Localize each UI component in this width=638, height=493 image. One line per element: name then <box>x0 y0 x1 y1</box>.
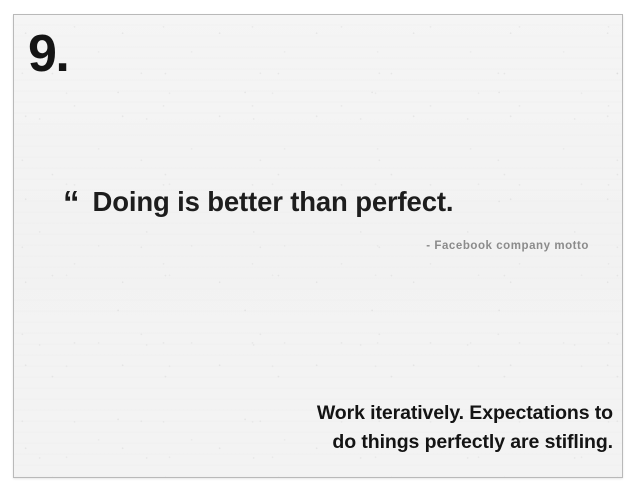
presentation-slide: 9. “ Doing is better than perfect. - Fac… <box>13 14 623 478</box>
open-quote-icon: “ <box>63 186 80 219</box>
slide-canvas: 9. “ Doing is better than perfect. - Fac… <box>0 0 638 493</box>
quote-text: Doing is better than perfect. <box>93 186 454 218</box>
takeaway-line-1: Work iteratively. Expectations to <box>164 399 613 428</box>
slide-number: 9. <box>28 28 68 80</box>
quote-line: “ Doing is better than perfect. <box>63 183 602 218</box>
takeaway-line-2: do things perfectly are stifling. <box>164 428 613 457</box>
quote-attribution: - Facebook company motto <box>63 240 602 252</box>
quote-block: “ Doing is better than perfect. - Facebo… <box>63 183 602 252</box>
takeaway-block: Work iteratively. Expectations to do thi… <box>164 399 613 457</box>
